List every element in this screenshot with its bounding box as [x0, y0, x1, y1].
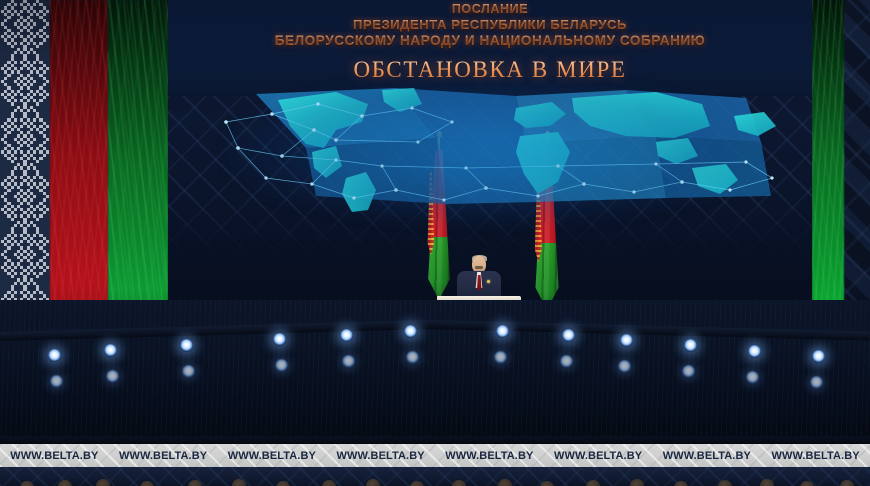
ornament-cell — [4, 70, 7, 73]
ornament-cell — [11, 13, 14, 16]
ornament-cell — [23, 278, 26, 281]
ornament-cell — [36, 170, 39, 173]
ornament-cell — [4, 83, 7, 86]
ornament-cell — [17, 128, 20, 131]
ornament-cell — [7, 234, 10, 237]
ornament-cell — [11, 154, 14, 157]
ornament-cell — [7, 99, 10, 102]
ornament-cell — [46, 195, 49, 198]
ornament-cell — [4, 32, 7, 35]
ornament-cell — [46, 208, 49, 211]
ornament-cell — [30, 19, 33, 22]
ornament-cell — [20, 67, 23, 70]
ornament-cell — [23, 38, 26, 41]
ornament-cell — [17, 13, 20, 16]
ornament-cell — [17, 256, 20, 259]
ornament-cell — [39, 67, 42, 70]
screen-headline: ОБСТАНОВКА В МИРЕ — [168, 57, 812, 83]
ornament-cell — [27, 42, 30, 45]
floor-light — [812, 350, 825, 363]
ornament-cell — [30, 205, 33, 208]
ornament-cell — [14, 176, 17, 179]
ornament-cell — [43, 237, 46, 240]
ornament-cell — [11, 285, 14, 288]
ornament-cell — [23, 48, 26, 51]
ornament-cell — [14, 253, 17, 256]
ornament-cell — [14, 195, 17, 198]
ornament-cell — [30, 250, 33, 253]
ornament-cell — [27, 67, 30, 70]
ornament-cell — [33, 157, 36, 160]
ornament-cell — [14, 272, 17, 275]
ornament-cell — [46, 182, 49, 185]
ornament-cell — [39, 42, 42, 45]
ornament-cell — [43, 64, 46, 67]
ornament-cell — [4, 6, 7, 9]
ornament-cell — [17, 163, 20, 166]
watermark-text: WWW.BELTA.BY — [761, 450, 870, 462]
ornament-cell — [20, 253, 23, 256]
ornament-cell — [39, 234, 42, 237]
ornament-cell — [17, 83, 20, 86]
ornament-cell — [14, 51, 17, 54]
ornament-cell — [43, 90, 46, 93]
ornament-cell — [17, 70, 20, 73]
ornament-cell — [33, 182, 36, 185]
ornament-cell — [33, 35, 36, 38]
ornament-cell — [30, 141, 33, 144]
ornament-cell — [11, 160, 14, 163]
ornament-cell — [20, 35, 23, 38]
ornament-cell — [14, 208, 17, 211]
ornament-cell — [14, 93, 17, 96]
ornament-cell — [30, 13, 33, 16]
ornament-cell — [11, 179, 14, 182]
ornament-cell — [30, 186, 33, 189]
audience-head — [840, 480, 854, 486]
ornament-cell — [39, 182, 42, 185]
ornament-cell — [4, 262, 7, 265]
ornament-cell — [27, 125, 30, 128]
ornament-cell — [39, 266, 42, 269]
ornament-cell — [7, 202, 10, 205]
ornament-cell — [27, 234, 30, 237]
ornament-cell — [14, 67, 17, 70]
ornament-cell — [23, 294, 26, 297]
ornament-cell — [20, 109, 23, 112]
floor-light-reflection — [342, 355, 355, 368]
floor-light — [684, 339, 697, 352]
ornament-cell — [17, 243, 20, 246]
floor-light-reflection — [810, 376, 823, 389]
ornament-cell — [36, 115, 39, 118]
ornament-cell — [39, 189, 42, 192]
ornament-cell — [11, 227, 14, 230]
ornament-cell — [23, 64, 26, 67]
ornament-cell — [20, 22, 23, 25]
ornament-cell — [43, 192, 46, 195]
ornament-cell — [4, 256, 7, 259]
ornament-cell — [36, 0, 39, 3]
ornament-cell — [23, 26, 26, 29]
ornament-cell — [23, 154, 26, 157]
floor-light — [496, 325, 509, 338]
ornament-cell — [27, 22, 30, 25]
ornament-cell — [4, 134, 7, 137]
ornament-cell — [20, 291, 23, 294]
ornament-cell — [43, 96, 46, 99]
world-map-graphic — [186, 86, 794, 216]
ornament-cell — [17, 106, 20, 109]
ornament-cell — [27, 291, 30, 294]
ornament-cell — [7, 144, 10, 147]
ornament-cell — [4, 250, 7, 253]
ornament-cell — [11, 38, 14, 41]
ornament-cell — [33, 253, 36, 256]
ornament-cell — [1, 80, 4, 83]
ornament-cell — [30, 243, 33, 246]
ornament-cell — [39, 3, 42, 6]
ornament-cell — [23, 77, 26, 80]
ornament-cell — [33, 93, 36, 96]
ornament-cell — [4, 122, 7, 125]
watermark-text: WWW.BELTA.BY — [326, 450, 435, 462]
ornament-cell — [43, 205, 46, 208]
ornament-cell — [20, 16, 23, 19]
ornament-cell — [43, 147, 46, 150]
ornament-cell — [36, 218, 39, 221]
ornament-cell — [20, 166, 23, 169]
ornament-cell — [46, 22, 49, 25]
ornament-cell — [33, 266, 36, 269]
ornament-cell — [20, 144, 23, 147]
ornament-cell — [11, 115, 14, 118]
floor-light-reflection — [50, 375, 63, 388]
title-line-3: БЕЛОРУССКОМУ НАРОДУ И НАЦИОНАЛЬНОМУ СОБР… — [168, 33, 812, 49]
ornament-cell — [11, 262, 14, 265]
ornament-cell — [27, 202, 30, 205]
ornament-cell — [7, 189, 10, 192]
ornament-cell — [20, 74, 23, 77]
ornament-cell — [30, 83, 33, 86]
ornament-cell — [1, 22, 4, 25]
audience-head — [586, 480, 600, 486]
ornament-cell — [43, 250, 46, 253]
ornament-cell — [17, 141, 20, 144]
ornament-cell — [33, 214, 36, 217]
ornament-cell — [36, 160, 39, 163]
ornament-cell — [33, 80, 36, 83]
floor-light — [748, 345, 761, 358]
floor-light-reflection — [494, 351, 507, 364]
ornament-cell — [27, 150, 30, 153]
audience-head — [96, 479, 110, 486]
ornament-cell — [11, 205, 14, 208]
ornament-cell — [43, 70, 46, 73]
ornament-cell — [23, 269, 26, 272]
ornament-cell — [1, 10, 4, 13]
ornament-cell — [39, 93, 42, 96]
ornament-cell — [27, 3, 30, 6]
ornament-cell — [1, 266, 4, 269]
ornament-cell — [23, 163, 26, 166]
ornament-cell — [11, 230, 14, 233]
ornament-cell — [30, 6, 33, 9]
ornament-cell — [17, 77, 20, 80]
ornament-cell — [11, 64, 14, 67]
ornament-cell — [11, 58, 14, 61]
ornament-cell — [23, 230, 26, 233]
ornament-cell — [39, 291, 42, 294]
ornament-cell — [4, 186, 7, 189]
floor-light-reflection — [275, 359, 288, 372]
ornament-cell — [43, 6, 46, 9]
ornament-cell — [17, 262, 20, 265]
ornament-cell — [14, 42, 17, 45]
audience-head — [674, 481, 688, 486]
ornament-cell — [39, 61, 42, 64]
ornament-cell — [1, 240, 4, 243]
screen-title-block: ПОСЛАНИЕ ПРЕЗИДЕНТА РЕСПУБЛИКИ БЕЛАРУСЬ … — [168, 2, 812, 83]
ornament-cell — [7, 150, 10, 153]
ornament-cell — [39, 259, 42, 262]
audience-silhouette-band — [0, 467, 870, 486]
ornament-cell — [23, 19, 26, 22]
ornament-cell — [36, 128, 39, 131]
ornament-cell — [46, 35, 49, 38]
ornament-cell — [11, 170, 14, 173]
ornament-cell — [20, 118, 23, 121]
ornament-cell — [17, 221, 20, 224]
ornament-cell — [4, 19, 7, 22]
ornament-cell — [14, 234, 17, 237]
ornament-cell — [20, 3, 23, 6]
ornament-cell — [11, 32, 14, 35]
ornament-cell — [33, 42, 36, 45]
speaker-lapel-pin — [487, 280, 490, 283]
ornament-cell — [7, 29, 10, 32]
ornament-cell — [30, 48, 33, 51]
ornament-cell — [7, 35, 10, 38]
ornament-cell — [7, 93, 10, 96]
ornament-cell — [4, 90, 7, 93]
ornament-cell — [17, 147, 20, 150]
ornament-cell — [30, 198, 33, 201]
ornament-cell — [4, 64, 7, 67]
ornament-cell — [39, 144, 42, 147]
watermark-bar: WWW.BELTA.BYWWW.BELTA.BYWWW.BELTA.BYWWW.… — [0, 444, 870, 467]
ornament-cell — [20, 224, 23, 227]
ornament-cell — [20, 157, 23, 160]
ornament-cell — [14, 138, 17, 141]
ornament-cell — [14, 214, 17, 217]
ornament-cell — [4, 179, 7, 182]
ornament-cell — [17, 186, 20, 189]
audience-head — [366, 479, 380, 486]
watermark-text: WWW.BELTA.BY — [218, 450, 327, 462]
ornament-cell — [11, 173, 14, 176]
ornament-cell — [20, 131, 23, 134]
floor-light-reflection — [746, 371, 759, 384]
ornament-cell — [30, 147, 33, 150]
ornament-cell — [39, 176, 42, 179]
ornament-cell — [39, 99, 42, 102]
ornament-cell — [14, 157, 17, 160]
ornament-cell — [39, 74, 42, 77]
ornament-cell — [7, 259, 10, 262]
ornament-cell — [27, 138, 30, 141]
ornament-cell — [17, 134, 20, 137]
floor-light — [273, 333, 286, 346]
ornament-cell — [43, 294, 46, 297]
ornament-cell — [46, 138, 49, 141]
ornament-cell — [4, 141, 7, 144]
ornament-cell — [23, 211, 26, 214]
audience-head — [718, 480, 732, 486]
ornament-cell — [20, 189, 23, 192]
ornament-cell — [20, 125, 23, 128]
audience-head — [232, 479, 246, 486]
ornament-cell — [43, 134, 46, 137]
ornament-cell — [46, 266, 49, 269]
ornament-cell — [36, 227, 39, 230]
audience-head — [188, 480, 202, 486]
ornament-cell — [1, 125, 4, 128]
ornament-cell — [23, 256, 26, 259]
ornament-cell — [4, 147, 7, 150]
ornament-cell — [33, 272, 36, 275]
ornament-cell — [27, 266, 30, 269]
ornament-cell — [23, 227, 26, 230]
ornament-cell — [43, 141, 46, 144]
ornament-cell — [14, 266, 17, 269]
floor-light — [180, 339, 193, 352]
ornament-cell — [27, 246, 30, 249]
ornament-cell — [30, 32, 33, 35]
ornament-cell — [30, 90, 33, 93]
ornament-cell — [14, 224, 17, 227]
ornament-cell — [23, 106, 26, 109]
ornament-cell — [4, 128, 7, 131]
ornament-cell — [39, 131, 42, 134]
ornament-cell — [33, 234, 36, 237]
ornament-cell — [23, 115, 26, 118]
speaker-moustache — [475, 266, 483, 269]
ornament-cell — [7, 246, 10, 249]
watermark-text: WWW.BELTA.BY — [544, 450, 653, 462]
ornament-cell — [30, 256, 33, 259]
ornament-cell — [30, 154, 33, 157]
ornament-cell — [14, 22, 17, 25]
ornament-cell — [43, 256, 46, 259]
ornament-cell — [11, 288, 14, 291]
stage-front-lip — [0, 436, 870, 444]
ornament-cell — [33, 67, 36, 70]
ornament-cell — [11, 102, 14, 105]
ornament-cell — [43, 128, 46, 131]
ornament-cell — [23, 45, 26, 48]
ornament-cell — [4, 13, 7, 16]
ornament-cell — [30, 269, 33, 272]
ornament-cell — [39, 208, 42, 211]
ornament-cell — [14, 291, 17, 294]
ornament-cell — [14, 3, 17, 6]
ornament-cell — [27, 282, 30, 285]
ornament-cell — [33, 138, 36, 141]
ornament-cell — [43, 186, 46, 189]
ornament-cell — [30, 134, 33, 137]
ornament-cell — [4, 294, 7, 297]
ornament-cell — [23, 275, 26, 278]
floor-light-reflection — [560, 355, 573, 368]
ornament-cell — [36, 70, 39, 73]
ornament-cell — [46, 150, 49, 153]
ornament-cell — [20, 138, 23, 141]
ornament-cell — [7, 240, 10, 243]
ornament-cell — [14, 150, 17, 153]
ornament-cell — [30, 64, 33, 67]
ornament-cell — [20, 234, 23, 237]
ornament-cell — [23, 112, 26, 115]
ornament-cell — [4, 77, 7, 80]
ornament-cell — [33, 118, 36, 121]
ornament-cell — [36, 243, 39, 246]
ornament-cell — [17, 32, 20, 35]
ornament-cell — [27, 157, 30, 160]
watermark-text: WWW.BELTA.BY — [435, 450, 544, 462]
ornament-cell — [20, 176, 23, 179]
ornament-cell — [33, 282, 36, 285]
floor-light — [48, 349, 61, 362]
ornament-cell — [7, 182, 10, 185]
audience-head — [140, 481, 154, 486]
ornament-cell — [14, 10, 17, 13]
ornament-cell — [23, 160, 26, 163]
ornament-cell — [4, 243, 7, 246]
ornament-cell — [36, 58, 39, 61]
ornament-cell — [17, 19, 20, 22]
ornament-cell — [27, 29, 30, 32]
floor-light-reflection — [106, 370, 119, 383]
ornament-cell — [17, 26, 20, 29]
ornament-cell — [17, 48, 20, 51]
ornament-cell — [27, 208, 30, 211]
ornament-cell — [27, 74, 30, 77]
ornament-cell — [43, 179, 46, 182]
ornament-cell — [30, 26, 33, 29]
ornament-cell — [27, 224, 30, 227]
ornament-cell — [11, 186, 14, 189]
ornament-cell — [17, 278, 20, 281]
ornament-cell — [11, 147, 14, 150]
title-line-1: ПОСЛАНИЕ — [168, 2, 812, 17]
ornament-cell — [36, 13, 39, 16]
ornament-cell — [7, 3, 10, 6]
ornament-cell — [14, 125, 17, 128]
ornament-cell — [27, 51, 30, 54]
ornament-cell — [30, 70, 33, 73]
ornament-cell — [7, 42, 10, 45]
ornament-cell — [39, 118, 42, 121]
ornament-cell — [36, 186, 39, 189]
ornament-cell — [23, 250, 26, 253]
ornament-cell — [23, 221, 26, 224]
ornament-cell — [23, 237, 26, 240]
audience-head — [58, 480, 72, 486]
ornament-cell — [27, 109, 30, 112]
audience-head — [410, 481, 424, 486]
ornament-cell — [27, 131, 30, 134]
